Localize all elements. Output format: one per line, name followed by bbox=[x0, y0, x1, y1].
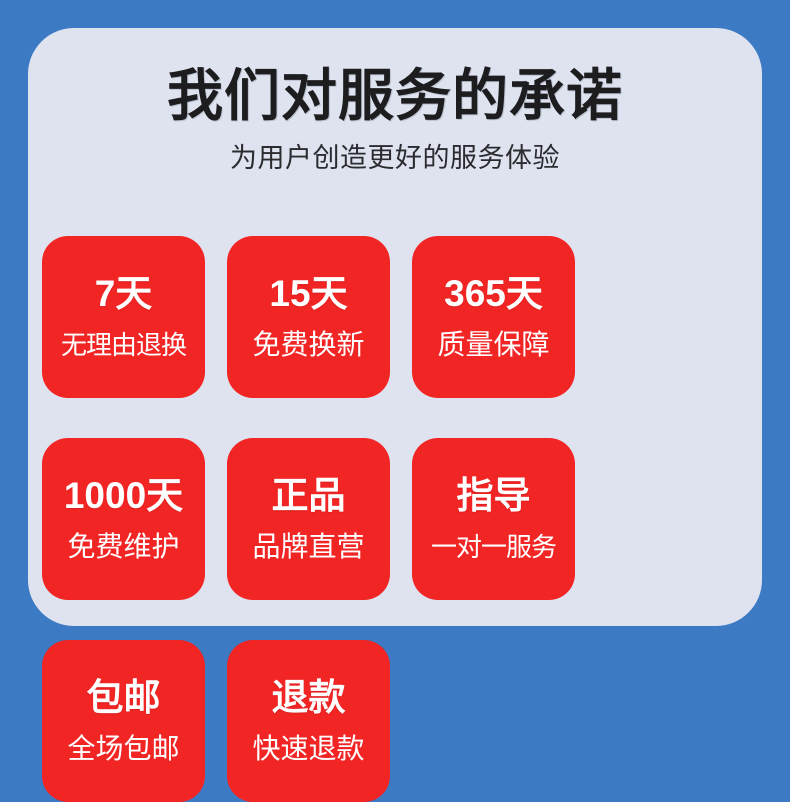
benefit-card-caption: 全场包邮 bbox=[67, 732, 179, 766]
service-promise-panel: 我们对服务的承诺 为用户创造更好的服务体验 7天 无理由退换 15天 免费换新 … bbox=[28, 28, 762, 626]
benefit-card-caption: 免费换新 bbox=[252, 328, 364, 362]
page-title: 我们对服务的承诺 bbox=[28, 64, 762, 128]
benefit-card-15day-exchange[interactable]: 15天 免费换新 bbox=[227, 236, 390, 398]
panel-header: 我们对服务的承诺 为用户创造更好的服务体验 bbox=[28, 64, 762, 174]
benefit-card-guidance[interactable]: 指导 一对一服务 bbox=[412, 438, 575, 600]
benefit-card-headline: 15天 bbox=[269, 272, 347, 316]
benefit-card-headline: 7天 bbox=[95, 272, 153, 316]
benefit-card-refund[interactable]: 退款 快速退款 bbox=[227, 640, 390, 802]
benefit-card-grid: 7天 无理由退换 15天 免费换新 365天 质量保障 1000天 免费维护 正… bbox=[42, 236, 748, 802]
benefit-card-headline: 365天 bbox=[444, 272, 543, 316]
benefit-card-headline: 指导 bbox=[457, 474, 531, 518]
benefit-card-headline: 包邮 bbox=[87, 676, 161, 720]
benefit-card-caption: 一对一服务 bbox=[431, 530, 556, 564]
benefit-card-caption: 无理由退换 bbox=[61, 328, 186, 362]
benefit-card-caption: 质量保障 bbox=[437, 328, 549, 362]
page-subtitle: 为用户创造更好的服务体验 bbox=[28, 142, 762, 174]
benefit-card-caption: 快速退款 bbox=[252, 732, 364, 766]
benefit-card-7day-return[interactable]: 7天 无理由退换 bbox=[42, 236, 205, 398]
benefit-card-headline: 1000天 bbox=[64, 474, 183, 518]
benefit-card-1000day-maintenance[interactable]: 1000天 免费维护 bbox=[42, 438, 205, 600]
benefit-card-caption: 品牌直营 bbox=[252, 530, 364, 564]
benefit-card-free-shipping[interactable]: 包邮 全场包邮 bbox=[42, 640, 205, 802]
benefit-card-headline: 正品 bbox=[272, 474, 346, 518]
benefit-card-caption: 免费维护 bbox=[67, 530, 179, 564]
benefit-card-genuine-product[interactable]: 正品 品牌直营 bbox=[227, 438, 390, 600]
benefit-card-365day-quality[interactable]: 365天 质量保障 bbox=[412, 236, 575, 398]
benefit-card-headline: 退款 bbox=[272, 676, 346, 720]
promo-banner: 我们对服务的承诺 为用户创造更好的服务体验 7天 无理由退换 15天 免费换新 … bbox=[0, 0, 790, 660]
